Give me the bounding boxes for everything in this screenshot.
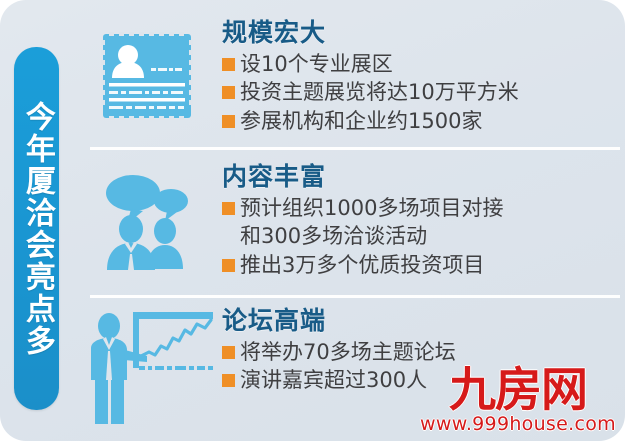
bullet-text: 推出3万多个优质投资项目 bbox=[240, 252, 484, 280]
list-item: 投资主题展览将达10万平方米 bbox=[222, 79, 625, 107]
bullet-text: 设10个专业展区 bbox=[240, 51, 393, 79]
vertical-title-banner: 今年厦洽会亮点多 bbox=[14, 47, 59, 410]
bullet-list: 设10个专业展区 投资主题展览将达10万平方米 参展机构和企业约1500家 bbox=[222, 51, 625, 136]
section-text-content: 内容丰富 预计组织1000多场项目对接 和300多场洽谈活动 推出3万多个优质投… bbox=[222, 156, 625, 281]
section-heading: 论坛高端 bbox=[222, 306, 625, 336]
section-scale: 规模宏大 设10个专业展区 投资主题展览将达10万平方米 参展机构和企业约150… bbox=[72, 12, 625, 140]
bullet-marker-icon bbox=[222, 259, 235, 272]
list-item: 参展机构和企业约1500家 bbox=[222, 108, 625, 136]
list-item-continuation: 和300多场洽谈活动 bbox=[222, 223, 625, 251]
bullet-text: 演讲嘉宾超过300人 bbox=[240, 367, 427, 395]
presenter-chart-icon bbox=[72, 300, 222, 436]
bullet-marker-icon bbox=[222, 58, 235, 71]
bullet-marker-icon bbox=[222, 115, 235, 128]
bullet-indent-spacer bbox=[222, 230, 235, 243]
discussion-people-icon bbox=[72, 156, 222, 286]
bullet-text: 参展机构和企业约1500家 bbox=[240, 108, 482, 136]
list-item: 设10个专业展区 bbox=[222, 51, 625, 79]
infographic-canvas: 今年厦洽会亮点多 bbox=[0, 0, 625, 441]
list-item: 推出3万多个优质投资项目 bbox=[222, 252, 625, 280]
list-item: 演讲嘉宾超过300人 bbox=[222, 367, 625, 395]
vertical-title-text: 今年厦洽会亮点多 bbox=[19, 101, 54, 357]
bullet-text: 将举办70多场主题论坛 bbox=[240, 339, 456, 367]
list-item: 将举办70多场主题论坛 bbox=[222, 339, 625, 367]
bullet-list: 将举办70多场主题论坛 演讲嘉宾超过300人 bbox=[222, 339, 625, 395]
section-text-scale: 规模宏大 设10个专业展区 投资主题展览将达10万平方米 参展机构和企业约150… bbox=[222, 12, 625, 137]
id-card-icon bbox=[72, 12, 222, 140]
section-content: 内容丰富 预计组织1000多场项目对接 和300多场洽谈活动 推出3万多个优质投… bbox=[72, 156, 625, 286]
bullet-marker-icon bbox=[222, 346, 235, 359]
section-divider-1 bbox=[90, 147, 620, 150]
bullet-marker-icon bbox=[222, 202, 235, 215]
bullet-list: 预计组织1000多场项目对接 和300多场洽谈活动 推出3万多个优质投资项目 bbox=[222, 195, 625, 280]
section-heading: 规模宏大 bbox=[222, 18, 625, 48]
bullet-marker-icon bbox=[222, 86, 235, 99]
section-forum: 论坛高端 将举办70多场主题论坛 演讲嘉宾超过300人 bbox=[72, 300, 625, 436]
section-text-forum: 论坛高端 将举办70多场主题论坛 演讲嘉宾超过300人 bbox=[222, 300, 625, 396]
bullet-text: 投资主题展览将达10万平方米 bbox=[240, 79, 519, 107]
section-divider-2 bbox=[90, 295, 620, 298]
bullet-text: 预计组织1000多场项目对接 bbox=[240, 195, 503, 223]
bullet-text: 和300多场洽谈活动 bbox=[240, 223, 427, 251]
bullet-marker-icon bbox=[222, 374, 235, 387]
list-item: 预计组织1000多场项目对接 bbox=[222, 195, 625, 223]
section-heading: 内容丰富 bbox=[222, 162, 625, 192]
